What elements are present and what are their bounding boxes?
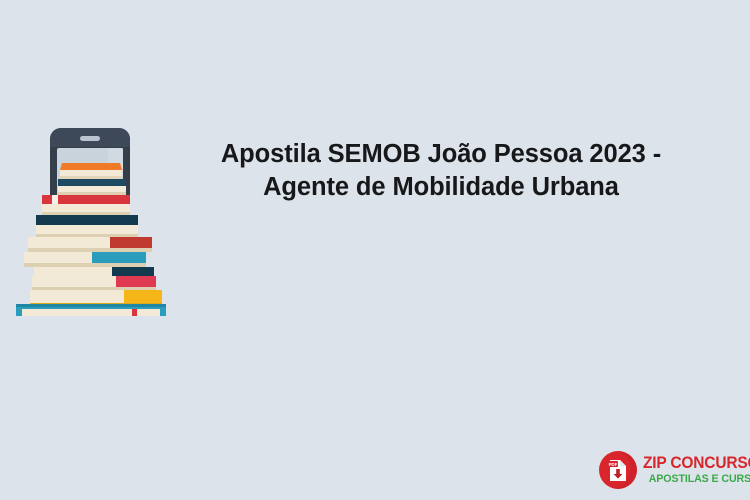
book-orange-top	[60, 163, 122, 179]
book-teal-middle	[24, 252, 146, 267]
pdf-download-circle-icon: PDF	[598, 450, 638, 490]
brand-logo[interactable]: PDF ZIP CONCURSOS APOSTILAS E CURSOS	[598, 448, 744, 492]
product-poster: Apostila SEMOB João Pessoa 2023 - Agente…	[0, 0, 750, 500]
book-red-upper	[42, 195, 130, 215]
brand-name: ZIP CONCURSOS	[643, 455, 750, 472]
pdf-download-glyph: PDF	[598, 450, 638, 490]
books-smartphone-graphic	[12, 126, 170, 316]
book-navy-upper	[58, 179, 126, 195]
stack-of-books-illustration	[12, 126, 170, 316]
brand-wordmark: ZIP CONCURSOS APOSTILAS E CURSOS	[643, 455, 750, 485]
brand-tagline: APOSTILAS E CURSOS	[643, 474, 750, 485]
book-teal-base	[16, 304, 166, 316]
book-crimson	[32, 276, 156, 290]
page-title: Apostila SEMOB João Pessoa 2023 - Agente…	[180, 138, 702, 204]
pdf-label: PDF	[609, 462, 618, 467]
book-yellow	[30, 290, 162, 306]
book-brick-wide	[28, 237, 152, 252]
title-block: Apostila SEMOB João Pessoa 2023 - Agente…	[180, 138, 702, 204]
book-navy-lower	[34, 267, 154, 276]
book-navy-wide	[36, 215, 138, 237]
